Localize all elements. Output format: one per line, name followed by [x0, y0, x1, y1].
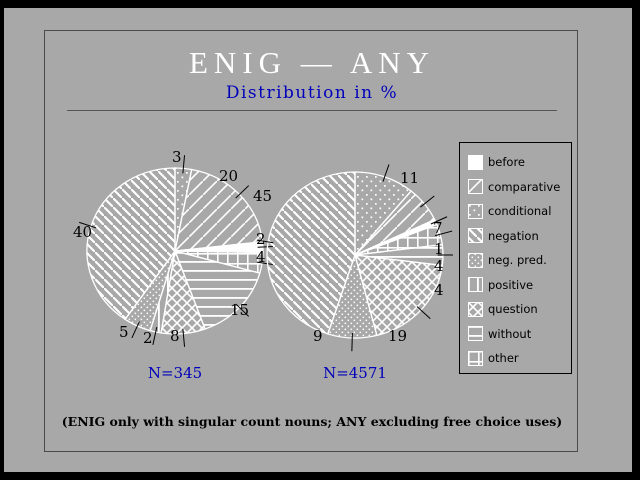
- swatch-diagonal-dense-icon: [468, 228, 483, 243]
- legend-item-before[interactable]: before: [468, 153, 525, 171]
- legend-item-label: positive: [488, 278, 533, 292]
- pie-slice-value-label: 11: [400, 171, 419, 186]
- swatch-diagonal-sparse-icon: [468, 179, 483, 194]
- legend-item-label: before: [488, 155, 525, 169]
- legend-item-label: without: [488, 327, 531, 341]
- swatch-solid-icon: [468, 155, 483, 170]
- legend-item-without[interactable]: without: [468, 325, 531, 343]
- legend-item-positive[interactable]: positive: [468, 276, 533, 294]
- pie-slice-value-label: 15: [230, 303, 249, 318]
- legend-item-label: other: [488, 351, 519, 365]
- pie-slice-value-label: 4: [434, 259, 444, 274]
- pie-slice-value-label: 2: [143, 331, 153, 346]
- pie-slice-value-label: 3: [172, 150, 182, 165]
- footnote: (ENIG only with singular count nouns; AN…: [45, 414, 579, 429]
- pie-slice-value-label: 1: [434, 242, 444, 257]
- pie-chart-enig-svg: [77, 153, 273, 349]
- pie-chart-any-svg: [257, 157, 453, 353]
- legend-item-label: conditional: [488, 204, 551, 218]
- page-title: ENIG — ANY: [45, 45, 579, 81]
- pie-chart-enig: 320241582540: [77, 153, 273, 349]
- legend-item-question[interactable]: question: [468, 300, 538, 318]
- screenshot-canvas: ENIG — ANY Distribution in % 32024158254…: [0, 0, 640, 480]
- swatch-crosshatch-diagonal-icon: [468, 302, 483, 317]
- legend-item-comparative[interactable]: comparative: [468, 178, 560, 196]
- letterbox-left: [0, 0, 4, 480]
- letterbox-right: [632, 0, 640, 480]
- swatch-stipple-icon: [468, 253, 483, 268]
- legend-item-conditional[interactable]: conditional: [468, 202, 551, 220]
- legend-item-other[interactable]: other: [468, 349, 519, 367]
- letterbox-top: [0, 0, 640, 8]
- legend-item-label: comparative: [488, 180, 560, 194]
- slide-panel: ENIG — ANY Distribution in % 32024158254…: [44, 30, 578, 452]
- pie-slice-value-label: 40: [73, 225, 92, 240]
- legend-item-label: negation: [488, 229, 539, 243]
- legend-item-label: question: [488, 302, 538, 316]
- pie-label-leader: [352, 333, 353, 351]
- swatch-vertical-icon: [468, 277, 483, 292]
- pie-slice-value-label: 8: [170, 329, 180, 344]
- legend: beforecomparativeconditionalnegationneg.…: [459, 142, 572, 374]
- letterbox-bottom: [0, 472, 640, 480]
- pie-slice-value-label: 20: [219, 169, 238, 184]
- header-divider: [67, 110, 557, 111]
- swatch-grid-icon: [468, 351, 483, 366]
- pie-any-n-label: N=4571: [285, 364, 425, 382]
- pie-enig-n-label: N=345: [105, 364, 245, 382]
- pie-slice-value-label: 45: [253, 189, 272, 204]
- swatch-horizontal-icon: [468, 326, 483, 341]
- pie-slice-value-label: 4: [434, 283, 444, 298]
- page-subtitle: Distribution in %: [45, 83, 579, 103]
- pie-slice-value-label: 19: [388, 329, 407, 344]
- pie-slice-value-label: 9: [313, 329, 323, 344]
- pie-chart-any: 11714419945: [257, 157, 453, 353]
- swatch-dots-sparse-icon: [468, 204, 483, 219]
- legend-item-label: neg. pred.: [488, 253, 547, 267]
- legend-item-neg-pred[interactable]: neg. pred.: [468, 251, 547, 269]
- pie-slice-value-label: 7: [433, 221, 443, 236]
- pie-slice-value-label: 5: [119, 325, 129, 340]
- legend-item-negation[interactable]: negation: [468, 227, 539, 245]
